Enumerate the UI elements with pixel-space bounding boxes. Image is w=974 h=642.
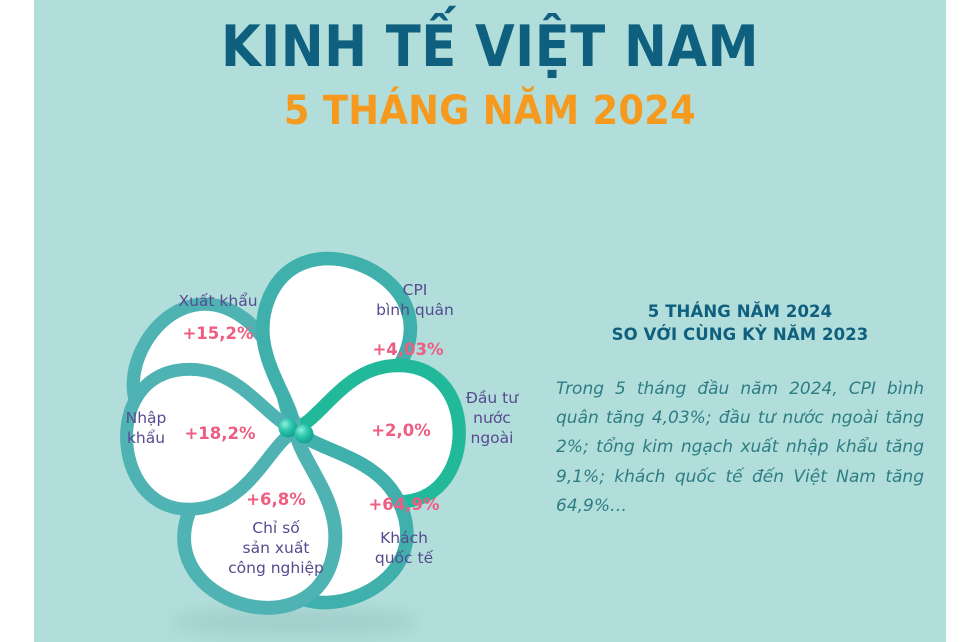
infographic-canvas: KINH TẾ VIỆT NAM 5 THÁNG NĂM 2024 (0, 0, 974, 642)
flower-shadow (170, 609, 420, 635)
flower-center-bead-right (295, 425, 314, 444)
summary-heading: 5 THÁNG NĂM 2024 SO VỚI CÙNG KỲ NĂM 2023 (556, 300, 924, 347)
flower-petals-graphic (60, 218, 530, 642)
flower-chart: CPI bình quân +4,03% Đầu tư nước ngoài +… (60, 218, 530, 642)
summary-body: Trong 5 tháng đầu năm 2024, CPI bình quâ… (556, 375, 924, 521)
summary-panel: 5 THÁNG NĂM 2024 SO VỚI CÙNG KỲ NĂM 2023… (556, 300, 924, 521)
page-title: KINH TẾ VIỆT NAM (80, 0, 901, 78)
page-subtitle: 5 THÁNG NĂM 2024 (70, 78, 909, 132)
header: KINH TẾ VIỆT NAM 5 THÁNG NĂM 2024 (34, 0, 946, 185)
